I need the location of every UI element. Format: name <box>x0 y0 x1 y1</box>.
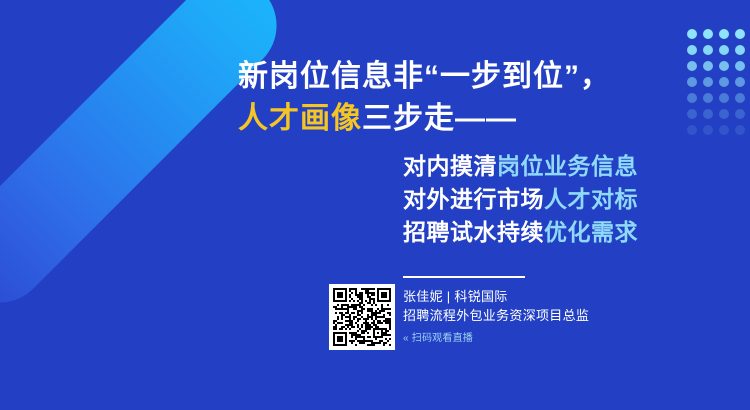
keypoint-accent: 岗位业务信息 <box>497 153 638 179</box>
keypoint-accent: 优化需求 <box>544 219 638 245</box>
dot <box>735 93 745 103</box>
dot <box>687 61 697 71</box>
dot <box>719 61 729 71</box>
dot <box>735 109 745 119</box>
dot <box>687 93 697 103</box>
dot <box>687 45 697 55</box>
dot <box>719 29 729 39</box>
dot <box>719 125 729 135</box>
dot <box>703 125 713 135</box>
keypoint-list: 对内摸清岗位业务信息 对外进行市场人才对标 招聘试水持续优化需求 <box>403 150 638 249</box>
headline-line-1: 新岗位信息非“一步到位”， <box>238 56 678 98</box>
dot <box>735 45 745 55</box>
scan-hint-label: 扫码观看直播 <box>412 332 473 346</box>
keypoint-item: 对内摸清岗位业务信息 <box>403 150 638 183</box>
dot <box>719 93 729 103</box>
dot <box>703 61 713 71</box>
dot <box>687 109 697 119</box>
keypoint-item: 招聘试水持续优化需求 <box>403 216 638 249</box>
keypoint-item: 对外进行市场人才对标 <box>403 183 638 216</box>
speaker-name: 张佳妮 | 科锐国际 <box>403 287 653 306</box>
speaker-title: 招聘流程外包业务资深项目总监 <box>403 306 653 325</box>
dot <box>703 29 713 39</box>
dot <box>687 29 697 39</box>
dot <box>703 93 713 103</box>
diagonal-bar-decoration <box>0 0 296 322</box>
dot <box>735 61 745 71</box>
dot <box>719 109 729 119</box>
keypoint-accent: 人才对标 <box>544 186 638 212</box>
headline-plain-text: 三步走—— <box>362 102 517 135</box>
promo-poster: 新岗位信息非“一步到位”， 人才画像三步走—— 对内摸清岗位业务信息 对外进行市… <box>0 0 750 410</box>
dot <box>735 29 745 39</box>
dot <box>735 77 745 87</box>
dot <box>703 77 713 87</box>
scan-hint: « 扫码观看直播 <box>403 332 653 346</box>
headline-line-2: 人才画像三步走—— <box>238 98 678 140</box>
double-chevron-left-icon: « <box>403 332 409 346</box>
dot <box>703 45 713 55</box>
headline: 新岗位信息非“一步到位”， 人才画像三步走—— <box>238 56 678 140</box>
qr-code-image <box>333 288 391 346</box>
keypoint-plain: 对外进行市场 <box>403 186 544 212</box>
keypoint-plain: 对内摸清 <box>403 153 497 179</box>
dot-grid-decoration <box>684 26 750 138</box>
dot <box>687 125 697 135</box>
dot <box>687 77 697 87</box>
speaker-info: 张佳妮 | 科锐国际 招聘流程外包业务资深项目总监 « 扫码观看直播 <box>403 276 653 346</box>
speaker-divider <box>403 276 525 278</box>
keypoint-plain: 招聘试水持续 <box>403 219 544 245</box>
dot <box>703 109 713 119</box>
dot <box>719 77 729 87</box>
dot <box>735 125 745 135</box>
qr-code[interactable] <box>329 284 395 350</box>
dot <box>719 45 729 55</box>
headline-accent-text: 人才画像 <box>238 102 362 135</box>
